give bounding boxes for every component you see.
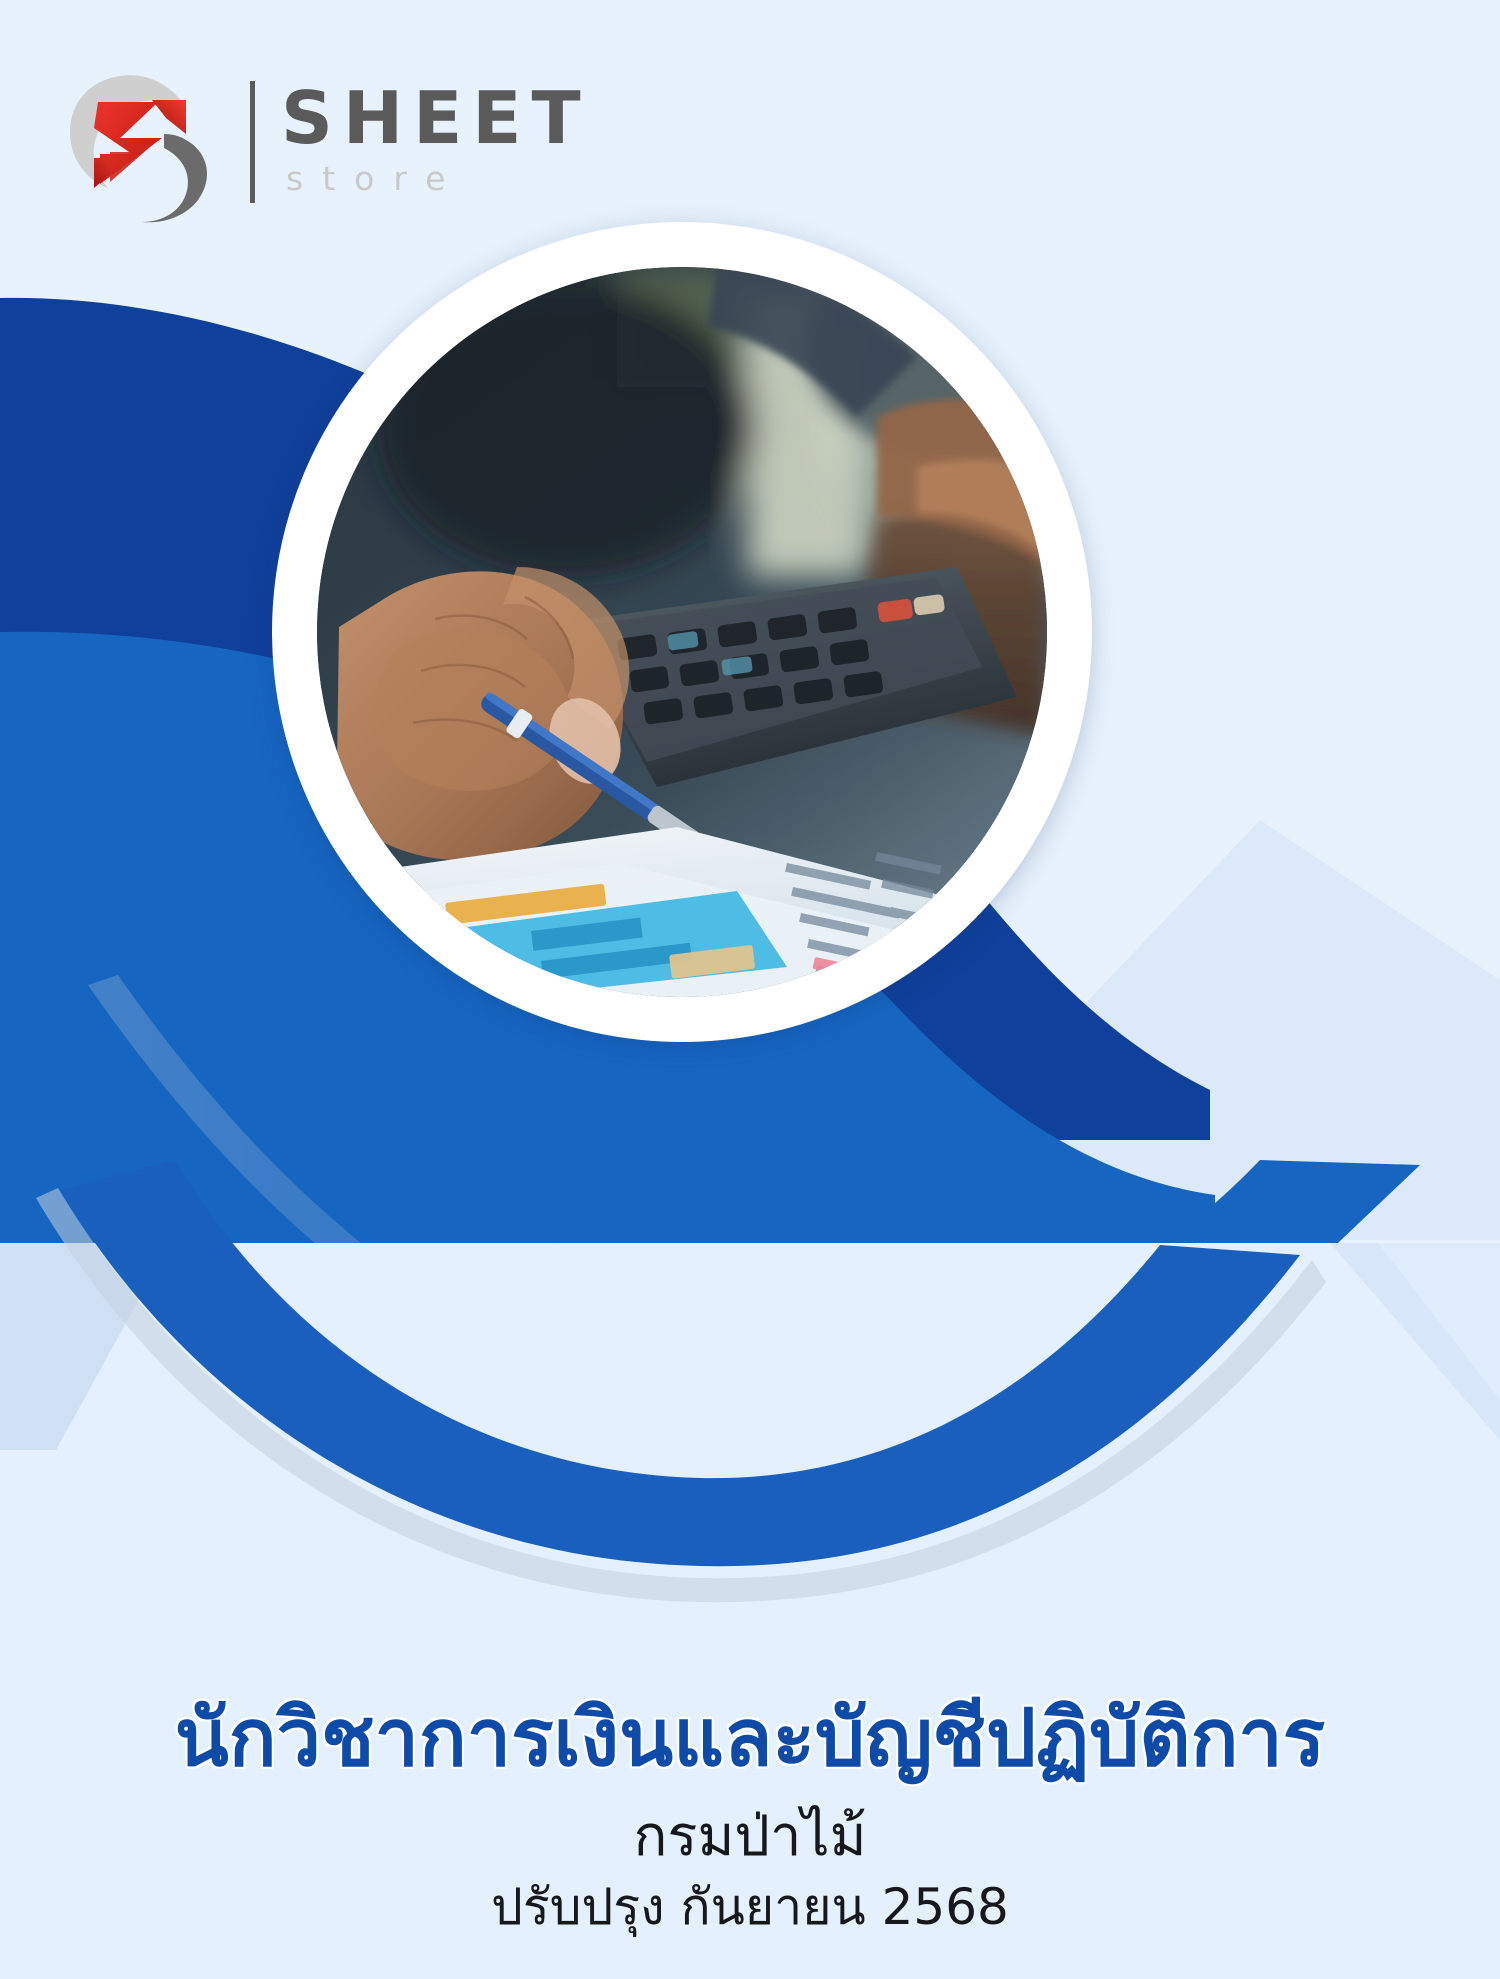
cover-title-block: นักวิชาการเงินและบัญชีปฏิบัติการ กรมป่าไ… [0,1697,1500,1979]
position-title: นักวิชาการเงินและบัญชีปฏิบัติการ [0,1697,1500,1781]
logo-s-red-overlay [102,104,158,182]
brand-logo[interactable]: SHEET store [58,56,591,224]
logo-crescent-light [70,75,184,188]
logo-crescent-dark [142,134,207,222]
sheet-store-s-monogram-icon [58,56,226,224]
revision-label: ปรับปรุง กันยายน 2568 [0,1880,1500,1935]
logo-wordmark: SHEET store [281,84,591,198]
cover-photo [317,267,1047,997]
logo-chevron-top [152,100,186,134]
logo-title: SHEET [281,84,591,153]
exam-prep-book-cover: SHEET store [0,0,1500,1979]
logo-subtitle: store [286,159,591,198]
organization-title: กรมป่าไม้ [0,1806,1500,1868]
logo-divider [250,81,255,203]
cover-photo-frame [272,222,1092,1042]
